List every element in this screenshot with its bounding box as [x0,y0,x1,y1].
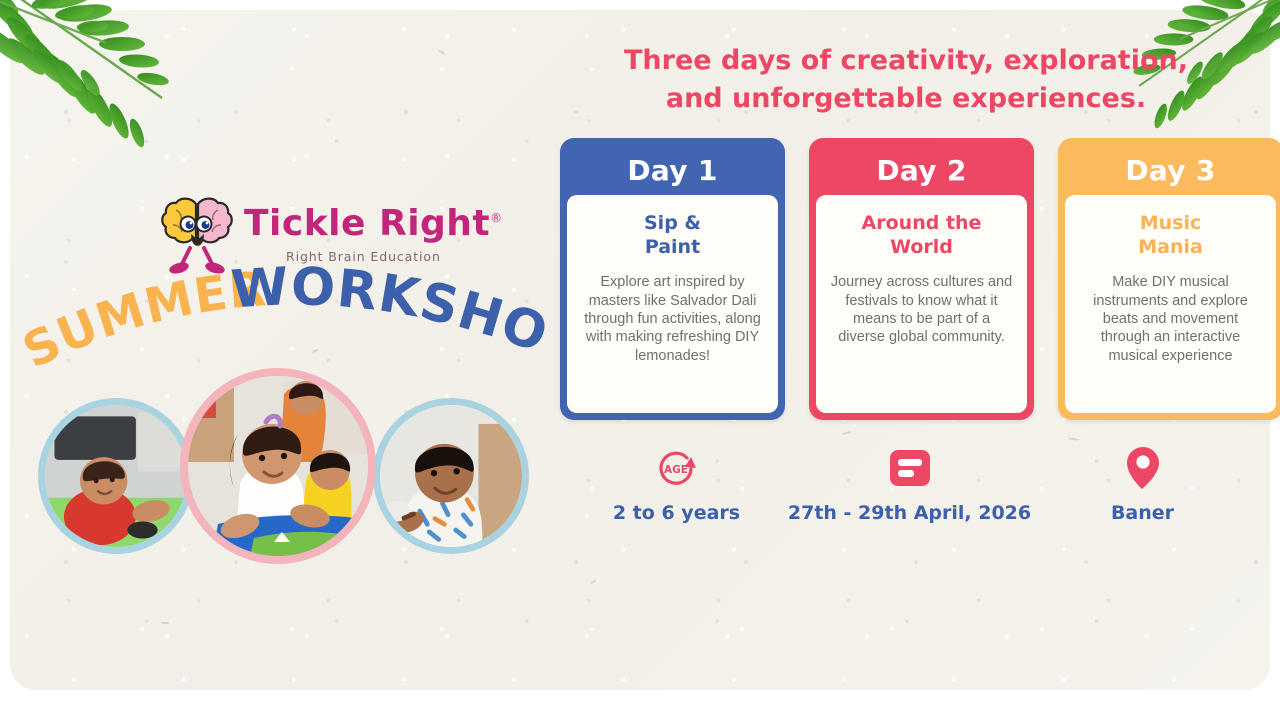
headline-line-1: Three days of creativity, exploration, [566,42,1246,80]
day-card-2[interactable]: Day 2 Around theWorld Journey across cul… [809,138,1034,420]
age-icon-text: AGE [664,464,688,476]
registered-mark-icon: ® [490,211,503,225]
photo-children-center [180,368,376,564]
day-cards: Day 1 Sip &Paint Explore art inspired by… [560,138,1280,420]
day-card-1-body: Sip &Paint Explore art inspired by maste… [567,195,778,413]
day-card-3[interactable]: Day 3 MusicMania Make DIY musical instru… [1058,138,1280,420]
location-pin-icon [1122,440,1164,496]
day-card-1-header: Day 1 [567,145,778,195]
poster-canvas: Tickle Right® Right Brain Education SUMM… [0,0,1280,720]
day-card-3-body: MusicMania Make DIY musical instruments … [1065,195,1276,413]
summer-workshop-title: SUMMER WORKSHOP [14,258,554,378]
headline-line-2: and unforgettable experiences. [566,80,1246,118]
info-label-date: 27th - 29th April, 2026 [788,502,1031,524]
day-card-3-header: Day 3 [1065,145,1276,195]
photo-child-right [373,398,529,554]
day-card-1-title: Sip &Paint [644,211,701,259]
logo-name-text: Tickle Right [244,203,490,244]
day-card-2-text: Journey across cultures and festivals to… [828,273,1015,347]
headline: Three days of creativity, exploration, a… [566,42,1246,119]
info-label-age: 2 to 6 years [613,502,740,524]
day-card-2-header: Day 2 [816,145,1027,195]
day-card-3-text: Make DIY musical instruments and explore… [1077,273,1264,365]
info-item-date: 27th - 29th April, 2026 [793,440,1026,524]
calendar-card-icon [887,440,933,496]
info-label-location: Baner [1111,502,1174,524]
day-card-2-title: Around theWorld [862,211,982,259]
day-card-1-text: Explore art inspired by masters like Sal… [579,273,766,365]
info-item-age: AGE 2 to 6 years [560,440,793,524]
photo-collage [30,368,530,568]
day-card-2-body: Around theWorld Journey across cultures … [816,195,1027,413]
info-item-location: Baner [1026,440,1259,524]
day-card-1[interactable]: Day 1 Sip &Paint Explore art inspired by… [560,138,785,420]
photo-child-left [38,398,194,554]
day-card-3-title: MusicMania [1138,211,1203,259]
left-column: Tickle Right® Right Brain Education SUMM… [0,150,560,580]
age-circle-icon: AGE [653,440,701,496]
info-row: AGE 2 to 6 years 27th - 29th April, 2026 [560,440,1260,524]
